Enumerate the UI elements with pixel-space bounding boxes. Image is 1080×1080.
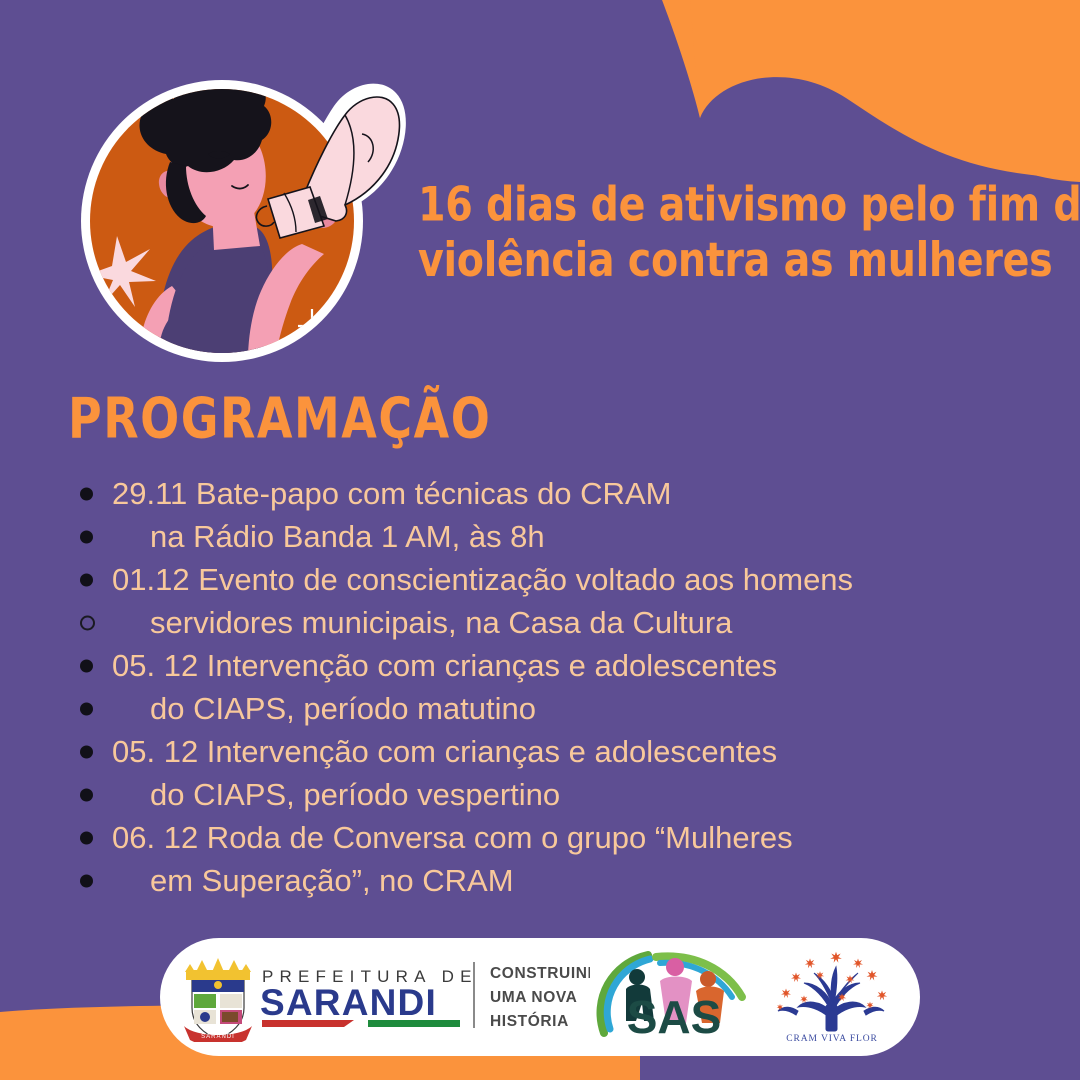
divider <box>473 962 475 1028</box>
program-item-label: na Rádio Banda 1 AM, às 8h <box>112 515 545 558</box>
program-item: 05. 12 Intervenção com crianças e adoles… <box>70 644 1030 687</box>
bullet-icon <box>80 745 93 758</box>
program-item: em Superação”, no CRAM <box>70 859 1030 902</box>
program-item-label: 01.12 Evento de conscientização voltado … <box>112 558 853 601</box>
headline-line-1: 16 dias de ativismo pelo fim da <box>418 178 1022 234</box>
program-item: 06. 12 Roda de Conversa com o grupo “Mul… <box>70 816 1030 859</box>
hero-illustration <box>62 58 414 374</box>
logo-prefeitura-sarandi: SARANDI PREFEITURA DE SARANDI CONSTRUIND… <box>178 952 590 1042</box>
sarandi-big-word: SARANDI <box>260 982 437 1023</box>
tagline-line-1: CONSTRUINDO <box>490 965 590 982</box>
prefeitura-sarandi-lockup: SARANDI PREFEITURA DE SARANDI CONSTRUIND… <box>178 952 590 1042</box>
tagline-line-2: UMA NOVA <box>490 989 577 1006</box>
sas-wordmark: SAS <box>627 991 722 1043</box>
bullet-icon <box>80 573 93 586</box>
logo-sas: SAS <box>590 949 758 1045</box>
rule-red <box>262 1020 354 1027</box>
program-item: do CIAPS, período vespertino <box>70 773 1030 816</box>
program-item: 05. 12 Intervenção com crianças e adoles… <box>70 730 1030 773</box>
program-item: 29.11 Bate-papo com técnicas do CRAM <box>70 472 1030 515</box>
bullet-icon <box>80 874 93 887</box>
program-item-label: do CIAPS, período matutino <box>112 687 536 730</box>
program-item: na Rádio Banda 1 AM, às 8h <box>70 515 1030 558</box>
headline-line-2: violência contra as mulheres <box>418 234 1022 290</box>
page-title: PROGRAMAÇÃO <box>68 385 491 451</box>
program-item-label: 05. 12 Intervenção com crianças e adoles… <box>112 644 777 687</box>
rule-green <box>368 1020 460 1027</box>
program-list: 29.11 Bate-papo com técnicas do CRAMna R… <box>70 472 1030 902</box>
program-item-label: 06. 12 Roda de Conversa com o grupo “Mul… <box>112 816 793 859</box>
bullet-icon <box>80 659 93 672</box>
program-item: do CIAPS, período matutino <box>70 687 1030 730</box>
poster-canvas: 16 dias de ativismo pelo fim da violênci… <box>0 0 1080 1080</box>
sarandi-coat-of-arms-icon: SARANDI <box>184 958 252 1042</box>
bullet-icon <box>80 788 93 801</box>
sas-people-arc-logo: SAS <box>590 949 758 1045</box>
program-item-label: servidores municipais, na Casa da Cultur… <box>112 601 732 644</box>
headline: 16 dias de ativismo pelo fim da violênci… <box>418 178 1022 289</box>
bullet-icon <box>80 702 93 715</box>
program-item-label: em Superação”, no CRAM <box>112 859 514 902</box>
bullet-icon <box>80 831 93 844</box>
program-item-label: 29.11 Bate-papo com técnicas do CRAM <box>112 472 671 515</box>
svg-text:SARANDI: SARANDI <box>201 1034 235 1040</box>
tagline-line-3: HISTÓRIA <box>490 1012 569 1030</box>
woman-with-megaphone-illustration <box>62 58 414 374</box>
program-item-label: 05. 12 Intervenção com crianças e adoles… <box>112 730 777 773</box>
footer-logo-card: SARANDI PREFEITURA DE SARANDI CONSTRUIND… <box>160 938 920 1056</box>
bullet-icon <box>80 487 93 500</box>
program-item-label: do CIAPS, período vespertino <box>112 773 560 816</box>
bullet-icon <box>80 530 93 543</box>
hollow-bullet-icon <box>80 615 95 630</box>
cram-viva-flor-tree-hands-logo: CRAM VIVA FLOR <box>758 949 906 1045</box>
program-item: servidores municipais, na Casa da Cultur… <box>70 601 1030 644</box>
logo-cram-viva-flor: CRAM VIVA FLOR <box>758 949 906 1045</box>
program-item: 01.12 Evento de conscientização voltado … <box>70 558 1030 601</box>
cram-caption: CRAM VIVA FLOR <box>786 1034 877 1044</box>
